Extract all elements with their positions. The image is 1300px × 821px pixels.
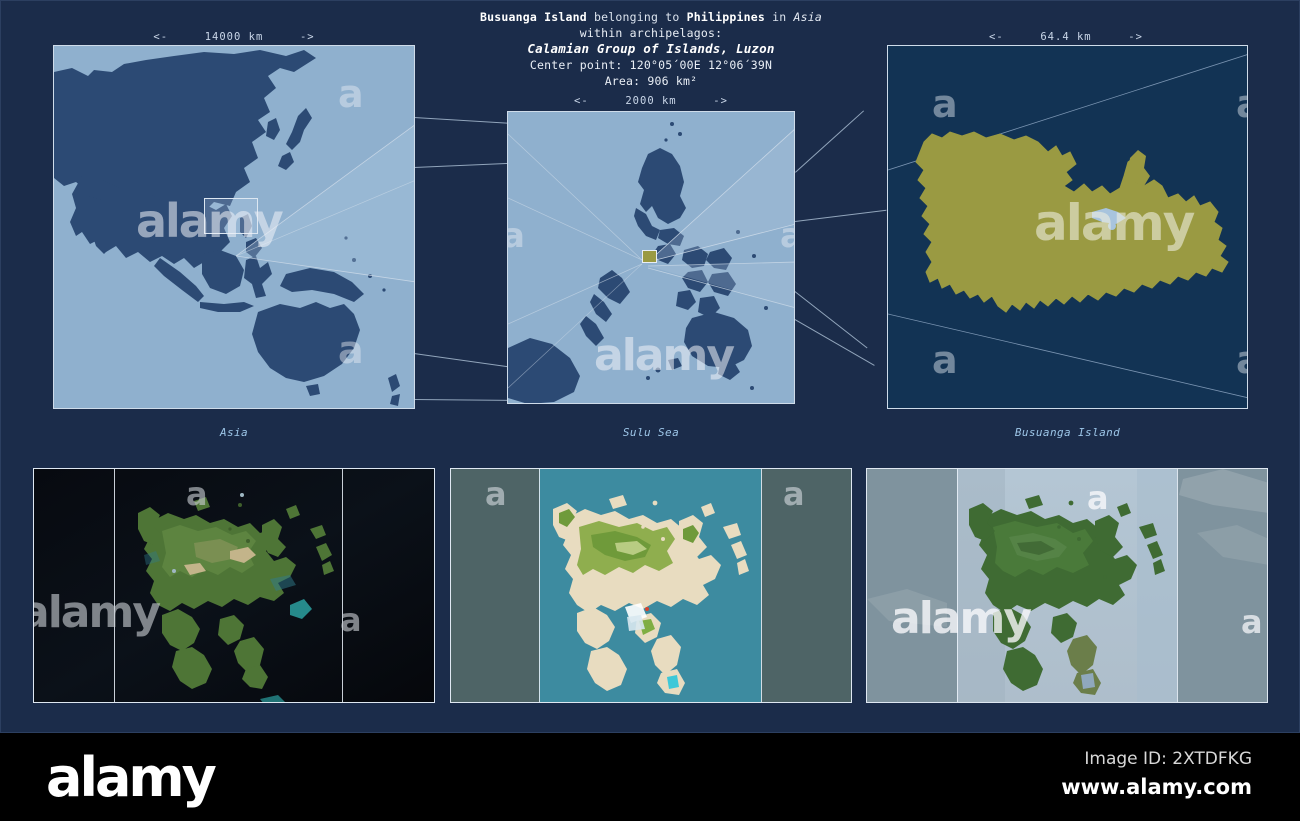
- connector-line: [795, 110, 864, 172]
- scale-left-arrow: <-: [153, 31, 168, 43]
- scale-bar-sulu: <- 2000 km ->: [551, 95, 751, 107]
- bottom-panel-satellite[interactable]: alamy a a: [33, 468, 435, 703]
- connector-line: [414, 163, 510, 168]
- scale-value: 14000 km: [205, 31, 264, 43]
- panel-divider: [539, 469, 540, 702]
- bottom-panel-topographic[interactable]: a a: [450, 468, 852, 703]
- scale-bar-asia: <- 14000 km ->: [134, 31, 334, 43]
- connector-line: [795, 210, 886, 222]
- island-highlight-box: [642, 250, 657, 263]
- subject-name: Busuanga Island: [480, 10, 587, 24]
- alamy-logo: alamy: [46, 751, 214, 805]
- panel-busuanga[interactable]: a a a a alamy: [887, 45, 1248, 409]
- scale-left-arrow: <-: [574, 95, 589, 107]
- screenshot-root: Busuanga Island belonging to Philippines…: [0, 0, 1300, 821]
- satellite-imagery-svg: [34, 469, 435, 703]
- scale-value: 2000 km: [625, 95, 676, 107]
- region-highlight-box: [204, 198, 258, 234]
- scale-left-arrow: <-: [989, 31, 1004, 43]
- panel-divider: [761, 469, 762, 702]
- topographic-map-svg: [451, 469, 852, 703]
- alamy-footer: alamy Image ID: 2XTDFKG www.alamy.com: [0, 733, 1300, 821]
- panel-divider: [1177, 469, 1178, 702]
- image-id-text: Image ID: 2XTDFKG: [1084, 749, 1252, 769]
- busuanga-island-svg: [888, 46, 1248, 409]
- bottom-panel-physical[interactable]: alamy a a: [866, 468, 1268, 703]
- connector-line: [414, 399, 510, 401]
- country-name: Philippines: [687, 10, 765, 24]
- scale-value: 64.4 km: [1040, 31, 1091, 43]
- panel-sulu-sea[interactable]: alamy a a: [507, 111, 795, 404]
- map-figure: Busuanga Island belonging to Philippines…: [0, 0, 1300, 733]
- scale-right-arrow: ->: [300, 31, 315, 43]
- continent-name: Asia: [793, 10, 822, 24]
- connector-line: [414, 353, 509, 367]
- scale-right-arrow: ->: [1128, 31, 1143, 43]
- panel-divider: [114, 469, 115, 702]
- panel-caption-sulu-sea: Sulu Sea: [507, 426, 795, 439]
- scale-bar-busuanga: <- 64.4 km ->: [966, 31, 1166, 43]
- scale-right-arrow: ->: [713, 95, 728, 107]
- physical-relief-svg: [867, 469, 1268, 703]
- panel-caption-asia: Asia: [53, 426, 415, 439]
- belonging-label: belonging to: [594, 10, 679, 24]
- panel-asia[interactable]: a a alamy: [53, 45, 415, 409]
- in-label: in: [772, 10, 786, 24]
- panel-divider: [957, 469, 958, 702]
- panel-caption-busuanga: Busuanga Island: [887, 426, 1248, 439]
- panel-divider: [342, 469, 343, 702]
- connector-line: [414, 117, 510, 124]
- website-text: www.alamy.com: [1061, 775, 1252, 799]
- connector-line: [795, 319, 875, 366]
- header-title-line: Busuanga Island belonging to Philippines…: [1, 9, 1300, 25]
